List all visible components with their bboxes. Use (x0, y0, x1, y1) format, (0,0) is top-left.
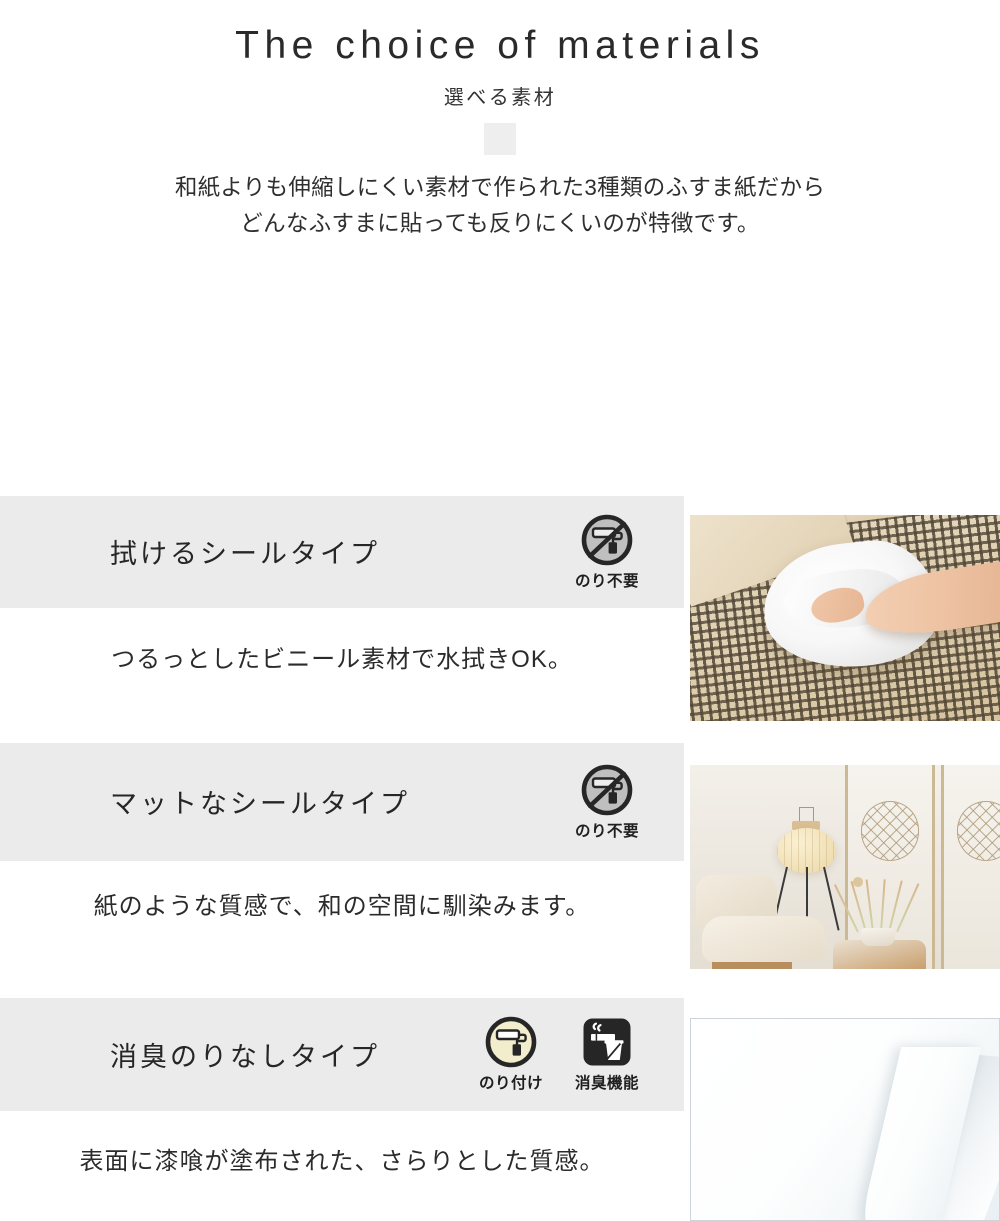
section-1-title: 拭けるシールタイプ (110, 532, 568, 571)
lead-line-2: どんなふすまに貼っても反りにくいのが特徴です。 (0, 206, 1000, 242)
square-divider (484, 123, 516, 155)
section-3-band: 消臭のりなしタイプ のり付け (0, 998, 684, 1111)
badge-no-glue-2: のり不要 (568, 763, 646, 841)
badge-label-no-glue-1: のり不要 (568, 569, 646, 591)
armchair (702, 916, 826, 963)
section-2-band: マットなシールタイプ のり不要 (0, 743, 684, 861)
section-3-title: 消臭のりなしタイプ (110, 1035, 472, 1074)
lattice-circle-1 (861, 801, 920, 860)
section-3-description: 表面に漆喰が塗布された、さらりとした質感。 (0, 1141, 684, 1176)
section-1-band: 拭けるシールタイプ のり不要 (0, 496, 684, 608)
badge-label-glue-applied: のり付け (472, 1071, 550, 1093)
badge-no-glue-1: のり不要 (568, 513, 646, 591)
no-glue-roller-icon (568, 513, 646, 567)
section-3-photo (690, 1018, 1000, 1221)
badge-label-no-glue-2: のり不要 (568, 819, 646, 841)
section-1-description: つるっとしたビニール素材で水拭きOK。 (0, 639, 684, 674)
section-2-photo (690, 765, 1000, 969)
lead-paragraph: 和紙よりも伸縮しにくい素材で作られた3種類のふすま紙だから どんなふすまに貼って… (0, 170, 1000, 243)
section-2-description: 紙のような質感で、和の空間に馴染みます。 (0, 886, 684, 921)
badge-label-deodorizing: 消臭機能 (568, 1071, 646, 1093)
section-3-badges: のり付け (472, 1015, 646, 1093)
section-1-photo (690, 515, 1000, 721)
glue-roller-icon (472, 1015, 550, 1069)
no-glue-roller-icon (568, 763, 646, 817)
page-header: The choice of materials 選べる素材 和紙よりも伸縮しにく… (0, 0, 1000, 243)
page-title-japanese: 選べる素材 (0, 81, 1000, 110)
section-2-title: マットなシールタイプ (110, 782, 568, 821)
lead-line-1: 和紙よりも伸縮しにくい素材で作られた3種類のふすま紙だから (0, 170, 1000, 206)
badge-deodorizing: 消臭機能 (568, 1015, 646, 1093)
page-title-english: The choice of materials (0, 22, 1000, 71)
plant-pot (861, 928, 895, 946)
section-1-badges: のり不要 (568, 513, 646, 591)
badge-glue-applied: のり付け (472, 1015, 550, 1093)
section-2-badges: のり不要 (568, 763, 646, 841)
pampas-grass (851, 879, 907, 932)
deodorizing-icon (568, 1015, 646, 1069)
